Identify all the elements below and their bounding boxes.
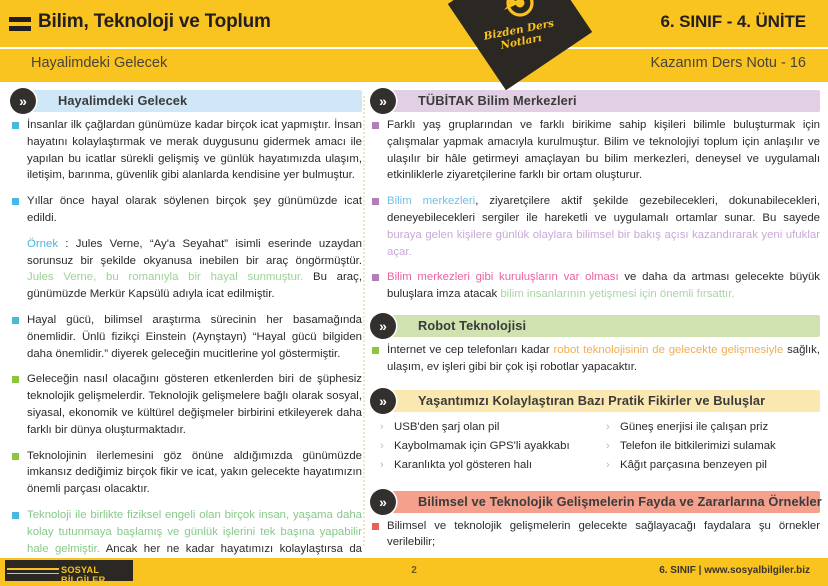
section-header-hayalimdeki-gelecek: » Hayalimdeki Gelecek	[10, 90, 362, 112]
chevron-right-icon: ›	[606, 437, 610, 456]
left-column: » Hayalimdeki Gelecek İnsanlar ilk çağla…	[10, 90, 362, 586]
square-bullet-icon	[372, 198, 379, 205]
square-bullet-icon	[12, 122, 19, 129]
paragraph-item: Bilimsel ve teknolojik gelişmelerin gele…	[370, 518, 820, 552]
list-item-label: Kaybolmamak için GPS'li ayakkabı	[394, 440, 570, 452]
footer-band: SOSYAL BİLGİLER 2 6. SINIF | www.sosyalb…	[0, 556, 828, 586]
section-title: Robot Teknolojisi	[418, 318, 526, 333]
ideas-list: ›USB'den şarj olan pil ›Kaybolmamak için…	[378, 418, 820, 475]
paragraph-item: Bilim merkezleri gibi kuruluşların var o…	[370, 269, 820, 303]
square-bullet-icon	[372, 274, 379, 281]
paragraph-item: İnsanlar ilk çağlardan günümüze kadar bi…	[10, 117, 362, 184]
square-bullet-icon	[12, 317, 19, 324]
section-header-robot: » Robot Teknolojisi	[370, 315, 820, 337]
paragraph-text: İnternet ve cep telefonları kadar robot …	[387, 342, 820, 376]
list-item: ›Kaybolmamak için GPS'li ayakkabı	[378, 437, 594, 456]
list-item-label: Kâğıt parçasına benzeyen pil	[620, 459, 767, 471]
paragraph-item: Yıllar önce hayal olarak söylenen birçok…	[10, 193, 362, 227]
chevron-right-icon: ›	[380, 418, 384, 437]
chevron-right-icon: ›	[380, 456, 384, 475]
list-item: ›Kâğıt parçasına benzeyen pil	[604, 456, 820, 475]
list-item: ›USB'den şarj olan pil	[378, 418, 594, 437]
chevron-right-icon: ›	[606, 418, 610, 437]
paragraph-item: Farklı yaş gruplarından ve farklı biriki…	[370, 117, 820, 184]
paragraph-item: Bilim merkezleri, ziyaretçilere aktif şe…	[370, 193, 820, 260]
chevron-double-right-icon: »	[370, 313, 396, 339]
paragraph-item: Geleceğin nasıl olacağını gösteren etken…	[10, 371, 362, 438]
subheader-note-number: Kazanım Ders Notu - 16	[650, 55, 806, 71]
paragraph-text: İnsanlar ilk çağlardan günümüze kadar bi…	[27, 117, 362, 184]
paragraph-text-a: İnternet ve cep telefonları kadar	[387, 344, 553, 356]
paragraph-text: Yıllar önce hayal olarak söylenen birçok…	[27, 193, 362, 227]
right-column: » TÜBİTAK Bilim Merkezleri Farklı yaş gr…	[370, 90, 820, 586]
section-header-tubitak: » TÜBİTAK Bilim Merkezleri	[370, 90, 820, 112]
section-header-pratik-fikirler: » Yaşantımızı Kolaylaştıran Bazı Pratik …	[370, 390, 820, 412]
square-bullet-icon	[12, 512, 19, 519]
example-text-a: Jules Verne, “Ay'a Seyahat” isimli eseri…	[27, 238, 362, 267]
unit-label: 6. SINIF - 4. ÜNİTE	[661, 12, 806, 32]
spiral-target-icon	[498, 0, 538, 22]
chevron-double-right-icon: »	[370, 489, 396, 515]
paragraph-text: Bilim merkezleri gibi kuruluşların var o…	[387, 269, 820, 303]
paragraph-text-b: robot teknolojisinin de gelecekte gelişm…	[553, 344, 783, 356]
paragraph-text-b: Ancak her ne kadar hayatımızı kolaylaştı…	[100, 543, 362, 555]
worksheet-page: Bilim, Teknoloji ve Toplum 6. SINIF - 4.…	[0, 0, 828, 586]
menu-bars-icon	[9, 17, 31, 32]
example-label: Örnek	[27, 238, 58, 250]
list-item: ›Güneş enerjisi ile çalışan priz	[604, 418, 820, 437]
example-paragraph: Örnek : Jules Verne, “Ay'a Seyahat” isim…	[27, 236, 362, 303]
paragraph-text: Hayal gücü, bilimsel araştırma sürecinin…	[27, 312, 362, 362]
chevron-double-right-icon: »	[370, 88, 396, 114]
subheader-topic: Hayalimdeki Gelecek	[31, 55, 167, 71]
paragraph-text: Farklı yaş gruplarından ve farklı biriki…	[387, 117, 820, 184]
paragraph-item: Hayal gücü, bilimsel araştırma sürecinin…	[10, 312, 362, 362]
ideas-column-right: ›Güneş enerjisi ile çalışan priz ›Telefo…	[604, 418, 820, 475]
square-bullet-icon	[12, 198, 19, 205]
list-item: ›Telefon ile bitkilerimizi sulamak	[604, 437, 820, 456]
list-item-label: USB'den şarj olan pil	[394, 421, 499, 433]
example-text-b: Jules Verne, bu romanıyla bir hayal sunm…	[27, 271, 303, 283]
paragraph-text-a: Bilim merkezleri gibi kuruluşların var o…	[387, 271, 619, 283]
ideas-column-left: ›USB'den şarj olan pil ›Kaybolmamak için…	[378, 418, 594, 475]
list-item-label: Telefon ile bitkilerimizi sulamak	[620, 440, 776, 452]
section-title: Yaşantımızı Kolaylaştıran Bazı Pratik Fi…	[418, 393, 765, 408]
list-item-label: Güneş enerjisi ile çalışan priz	[620, 421, 768, 433]
paragraph-text-c: buraya gelen kişilere günlük olaylara bi…	[387, 229, 820, 258]
section-title: Bilimsel ve Teknolojik Gelişmelerin Fayd…	[418, 494, 822, 509]
square-bullet-icon	[372, 347, 379, 354]
section-title: Hayalimdeki Gelecek	[58, 93, 187, 108]
footer-site-info: 6. SINIF | www.sosyalbilgiler.biz	[659, 565, 810, 576]
chevron-right-icon: ›	[380, 437, 384, 456]
paragraph-text: Teknolojinin ilerlemesini göz önüne aldı…	[27, 448, 362, 498]
paragraph-text: Bilim merkezleri, ziyaretçilere aktif şe…	[387, 193, 820, 260]
paragraph-text-c: bilim insanlarının yetişmesi için önemli…	[500, 288, 734, 300]
header-divider	[0, 47, 828, 49]
page-title: Bilim, Teknoloji ve Toplum	[38, 11, 271, 33]
column-divider	[363, 96, 365, 546]
section-header-fayda-zarar: » Bilimsel ve Teknolojik Gelişmelerin Fa…	[370, 491, 820, 513]
square-bullet-icon	[12, 376, 19, 383]
paragraph-text: Bilimsel ve teknolojik gelişmelerin gele…	[387, 518, 820, 552]
section-title: TÜBİTAK Bilim Merkezleri	[418, 93, 577, 108]
chevron-double-right-icon: »	[10, 88, 36, 114]
paragraph-text: Geleceğin nasıl olacağını gösteren etken…	[27, 371, 362, 438]
example-separator: :	[58, 238, 76, 250]
chevron-right-icon: ›	[606, 456, 610, 475]
paragraph-text-a: Bilim merkezleri	[387, 195, 475, 207]
paragraph-item: Teknolojinin ilerlemesini göz önüne aldı…	[10, 448, 362, 498]
list-item: ›Karanlıkta yol gösteren halı	[378, 456, 594, 475]
square-bullet-icon	[12, 453, 19, 460]
footer-divider	[0, 556, 828, 558]
chevron-double-right-icon: »	[370, 388, 396, 414]
square-bullet-icon	[372, 523, 379, 530]
paragraph-item: İnternet ve cep telefonları kadar robot …	[370, 342, 820, 376]
list-item-label: Karanlıkta yol gösteren halı	[394, 459, 532, 471]
square-bullet-icon	[372, 122, 379, 129]
